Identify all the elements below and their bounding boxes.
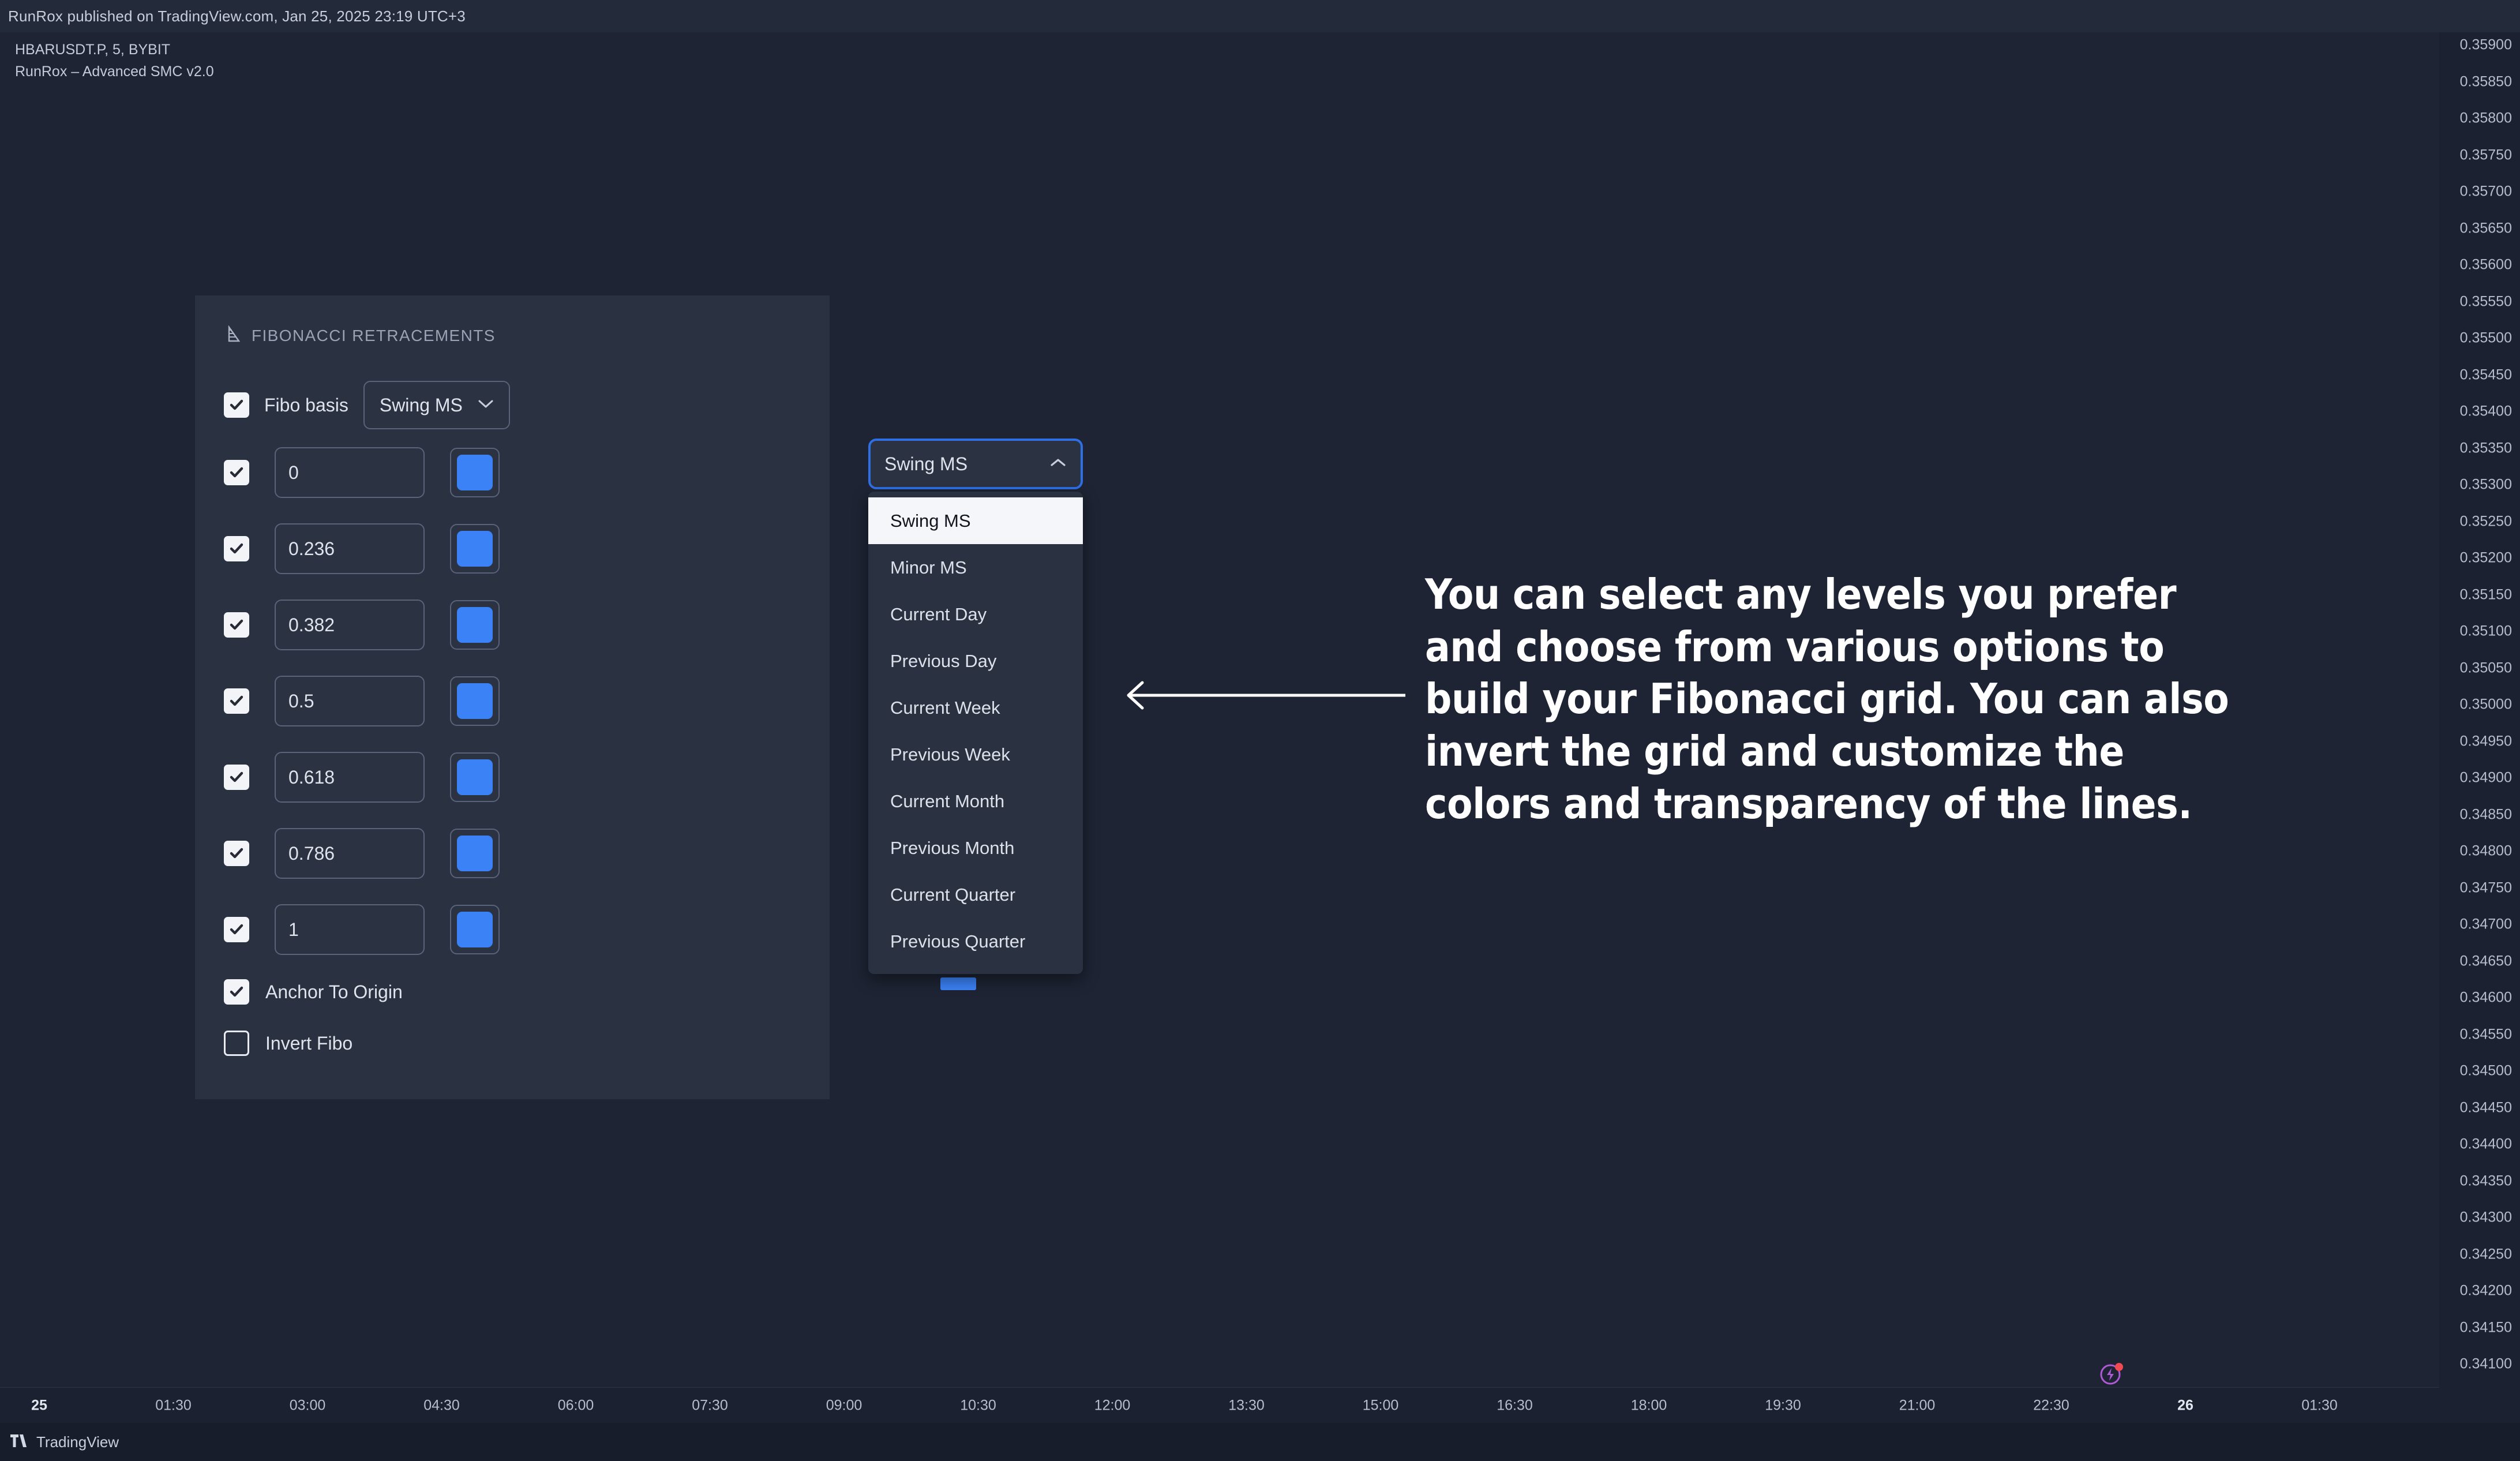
time-tick: 16:30 <box>1497 1397 1533 1414</box>
panel-header: FIBONACCI RETRACEMENTS <box>226 325 496 346</box>
check-icon <box>228 693 245 709</box>
price-tick: 0.34400 <box>2460 1136 2512 1153</box>
obscured-color-swatch <box>940 977 976 990</box>
check-icon <box>228 984 245 1000</box>
time-tick: 22:30 <box>2033 1397 2069 1414</box>
time-tick: 21:00 <box>1899 1397 1936 1414</box>
legend-symbol: HBARUSDT.P, 5, BYBIT <box>15 39 214 61</box>
time-tick: 01:30 <box>2301 1397 2338 1414</box>
check-icon <box>228 845 245 861</box>
check-icon <box>228 617 245 633</box>
tradingview-label: TradingView <box>36 1433 119 1451</box>
fibo-basis-dropdown: Swing MS Swing MSMinor MSCurrent DayPrev… <box>868 439 1083 974</box>
level-color-swatch[interactable] <box>450 448 500 497</box>
time-tick: 18:00 <box>1631 1397 1667 1414</box>
invert-fibo-label: Invert Fibo <box>265 1033 352 1054</box>
price-tick: 0.35500 <box>2460 330 2512 347</box>
annotation-arrow-icon <box>1124 678 1407 713</box>
price-tick: 0.34700 <box>2460 916 2512 933</box>
time-tick: 10:30 <box>960 1397 996 1414</box>
color-chip <box>457 455 493 490</box>
price-tick: 0.35250 <box>2460 513 2512 530</box>
price-tick: 0.35200 <box>2460 550 2512 567</box>
legend-indicator: RunRox – Advanced SMC v2.0 <box>15 61 214 83</box>
dropdown-option[interactable]: Previous Quarter <box>868 918 1083 965</box>
chevron-down-icon <box>478 399 494 412</box>
level-value-input[interactable]: 0.382 <box>275 600 425 650</box>
level-color-swatch[interactable] <box>450 752 500 802</box>
fibonacci-level-row: 0.236 <box>224 523 500 574</box>
price-tick: 0.35050 <box>2460 660 2512 676</box>
level-checkbox[interactable] <box>224 460 249 485</box>
level-value-input[interactable]: 0.786 <box>275 828 425 879</box>
color-chip <box>457 531 493 567</box>
price-tick: 0.34650 <box>2460 953 2512 969</box>
price-tick: 0.34350 <box>2460 1172 2512 1189</box>
time-tick: 26 <box>2177 1397 2193 1414</box>
level-checkbox[interactable] <box>224 917 249 942</box>
alert-badge-icon[interactable] <box>2099 1361 2124 1386</box>
tradingview-brand[interactable]: TradingView <box>10 1433 119 1451</box>
price-tick: 0.34900 <box>2460 770 2512 786</box>
time-tick: 12:00 <box>1094 1397 1131 1414</box>
level-checkbox[interactable] <box>224 612 249 638</box>
dropdown-option[interactable]: Current Day <box>868 591 1083 638</box>
chevron-up-icon <box>1049 457 1067 471</box>
color-chip <box>457 607 493 643</box>
time-scale[interactable]: 2501:3003:0004:3006:0007:3009:0010:3012:… <box>0 1387 2439 1423</box>
publish-bar: RunRox published on TradingView.com, Jan… <box>0 0 2520 32</box>
color-chip <box>457 836 493 871</box>
price-tick: 0.34250 <box>2460 1246 2512 1263</box>
tradingview-logo-icon <box>10 1433 30 1451</box>
level-color-swatch[interactable] <box>450 829 500 878</box>
dropdown-option[interactable]: Current Quarter <box>868 871 1083 918</box>
time-tick: 06:00 <box>558 1397 594 1414</box>
fibo-basis-select-value: Swing MS <box>380 395 463 416</box>
price-tick: 0.34450 <box>2460 1099 2512 1116</box>
price-tick: 0.35350 <box>2460 440 2512 456</box>
price-tick: 0.35300 <box>2460 477 2512 493</box>
dropdown-trigger[interactable]: Swing MS <box>868 439 1083 489</box>
anchor-to-origin-checkbox[interactable] <box>224 979 249 1005</box>
check-icon <box>228 464 245 481</box>
time-tick: 03:00 <box>290 1397 326 1414</box>
dropdown-selected-value: Swing MS <box>884 454 967 475</box>
invert-fibo-row: Invert Fibo <box>224 1031 352 1056</box>
dropdown-option[interactable]: Current Week <box>868 684 1083 731</box>
fibonacci-level-row: 0.618 <box>224 752 500 803</box>
level-checkbox[interactable] <box>224 536 249 561</box>
price-tick: 0.35400 <box>2460 403 2512 420</box>
fibonacci-level-row: 1 <box>224 904 500 955</box>
check-icon <box>228 397 245 413</box>
price-tick: 0.35800 <box>2460 110 2512 127</box>
price-tick: 0.35700 <box>2460 183 2512 200</box>
dropdown-option[interactable]: Previous Week <box>868 731 1083 778</box>
dropdown-option[interactable]: Previous Month <box>868 825 1083 871</box>
time-tick: 13:30 <box>1228 1397 1265 1414</box>
color-chip <box>457 912 493 947</box>
price-tick: 0.35850 <box>2460 73 2512 90</box>
price-tick: 0.35550 <box>2460 293 2512 310</box>
fibonacci-level-row: 0 <box>224 447 500 498</box>
panel-title: FIBONACCI RETRACEMENTS <box>252 327 496 345</box>
time-tick: 04:30 <box>423 1397 460 1414</box>
price-tick: 0.34750 <box>2460 879 2512 896</box>
price-tick: 0.34550 <box>2460 1026 2512 1043</box>
price-scale[interactable]: 0.359000.358500.358000.357500.357000.356… <box>2439 32 2520 1387</box>
price-tick: 0.34300 <box>2460 1209 2512 1226</box>
dropdown-option[interactable]: Swing MS <box>868 497 1083 544</box>
level-checkbox[interactable] <box>224 841 249 866</box>
check-icon <box>228 921 245 938</box>
dropdown-options-list: Swing MSMinor MSCurrent DayPrevious DayC… <box>868 492 1083 974</box>
price-tick: 0.34500 <box>2460 1063 2512 1080</box>
price-tick: 0.35650 <box>2460 220 2512 237</box>
chart-legend: HBARUSDT.P, 5, BYBIT RunRox – Advanced S… <box>15 39 214 83</box>
level-color-swatch[interactable] <box>450 905 500 954</box>
level-value-input[interactable]: 0.236 <box>275 523 425 574</box>
level-color-swatch[interactable] <box>450 600 500 650</box>
level-color-swatch[interactable] <box>450 524 500 574</box>
price-tick: 0.34200 <box>2460 1283 2512 1299</box>
level-value-input[interactable]: 0 <box>275 447 425 498</box>
anchor-to-origin-row: Anchor To Origin <box>224 979 403 1005</box>
fibonacci-level-row: 0.382 <box>224 600 500 650</box>
time-tick: 07:30 <box>692 1397 728 1414</box>
publish-text: RunRox published on TradingView.com, Jan… <box>8 8 466 25</box>
price-tick: 0.34150 <box>2460 1319 2512 1336</box>
footer-bar: TradingView <box>0 1423 2520 1461</box>
ruler-icon <box>226 325 243 346</box>
check-icon <box>228 541 245 557</box>
fibo-basis-label: Fibo basis <box>264 395 348 416</box>
fibonacci-level-row: 0.786 <box>224 828 500 879</box>
dropdown-option[interactable]: Previous Day <box>868 638 1083 684</box>
time-tick: 19:30 <box>1765 1397 1801 1414</box>
price-tick: 0.34600 <box>2460 990 2512 1006</box>
level-checkbox[interactable] <box>224 765 249 790</box>
dropdown-option[interactable]: Minor MS <box>868 544 1083 591</box>
price-tick: 0.34950 <box>2460 733 2512 750</box>
time-tick: 01:30 <box>155 1397 192 1414</box>
level-color-swatch[interactable] <box>450 676 500 726</box>
level-value-input[interactable]: 0.618 <box>275 752 425 803</box>
fibo-basis-select[interactable]: Swing MS <box>363 381 510 429</box>
price-tick: 0.35000 <box>2460 696 2512 713</box>
color-chip <box>457 759 493 795</box>
price-tick: 0.35750 <box>2460 147 2512 163</box>
anchor-to-origin-label: Anchor To Origin <box>265 982 403 1003</box>
dropdown-option[interactable]: Current Month <box>868 778 1083 825</box>
time-tick: 15:00 <box>1363 1397 1399 1414</box>
price-tick: 0.34100 <box>2460 1356 2512 1373</box>
price-tick: 0.34800 <box>2460 843 2512 860</box>
check-icon <box>228 769 245 785</box>
price-tick: 0.35450 <box>2460 366 2512 383</box>
fibo-basis-checkbox[interactable] <box>224 392 249 418</box>
fibonacci-level-rows: 00.2360.3820.50.6180.7861 <box>224 447 500 980</box>
fibo-basis-row: Fibo basis Swing MS <box>224 381 510 429</box>
fibonacci-level-row: 0.5 <box>224 676 500 726</box>
level-checkbox[interactable] <box>224 688 249 714</box>
time-tick: 09:00 <box>826 1397 862 1414</box>
invert-fibo-checkbox[interactable] <box>224 1031 249 1056</box>
price-tick: 0.35150 <box>2460 586 2512 603</box>
tradingview-chart-screenshot: RunRox published on TradingView.com, Jan… <box>0 0 2520 1461</box>
price-tick: 0.34850 <box>2460 806 2512 823</box>
price-tick: 0.35600 <box>2460 257 2512 274</box>
level-value-input[interactable]: 0.5 <box>275 676 425 726</box>
color-chip <box>457 683 493 719</box>
price-tick: 0.35100 <box>2460 623 2512 640</box>
level-value-input[interactable]: 1 <box>275 904 425 955</box>
annotation-text: You can select any levels you prefer and… <box>1425 568 2256 830</box>
price-tick: 0.35900 <box>2460 37 2512 54</box>
time-tick: 25 <box>31 1397 47 1414</box>
